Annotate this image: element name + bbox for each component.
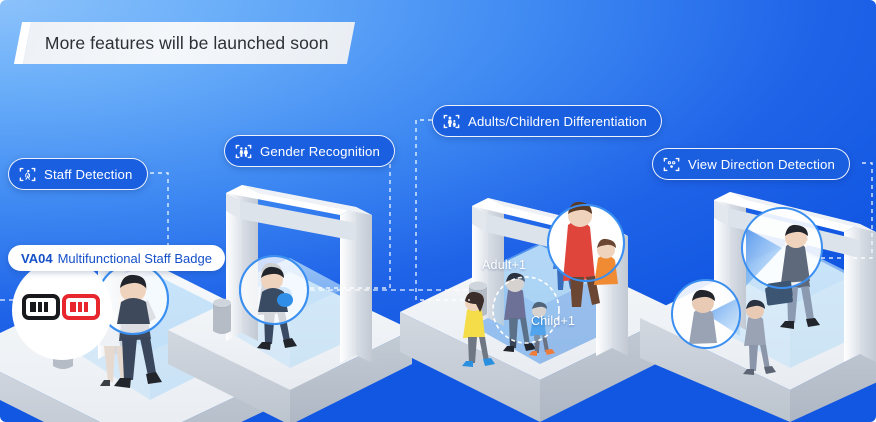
staff-badge-callout: [0, 0, 876, 422]
label-child-count: Child+1: [531, 314, 575, 328]
promo-banner-illustration: More features will be launched soon Staf…: [0, 0, 876, 422]
va04-code: VA04: [21, 251, 53, 266]
tooltip-pointer: [62, 270, 78, 280]
va04-text: Multifunctional Staff Badge: [58, 251, 212, 266]
label-adult-count: Adult+1: [482, 258, 526, 272]
va04-tooltip[interactable]: VA04 Multifunctional Staff Badge: [8, 245, 225, 271]
